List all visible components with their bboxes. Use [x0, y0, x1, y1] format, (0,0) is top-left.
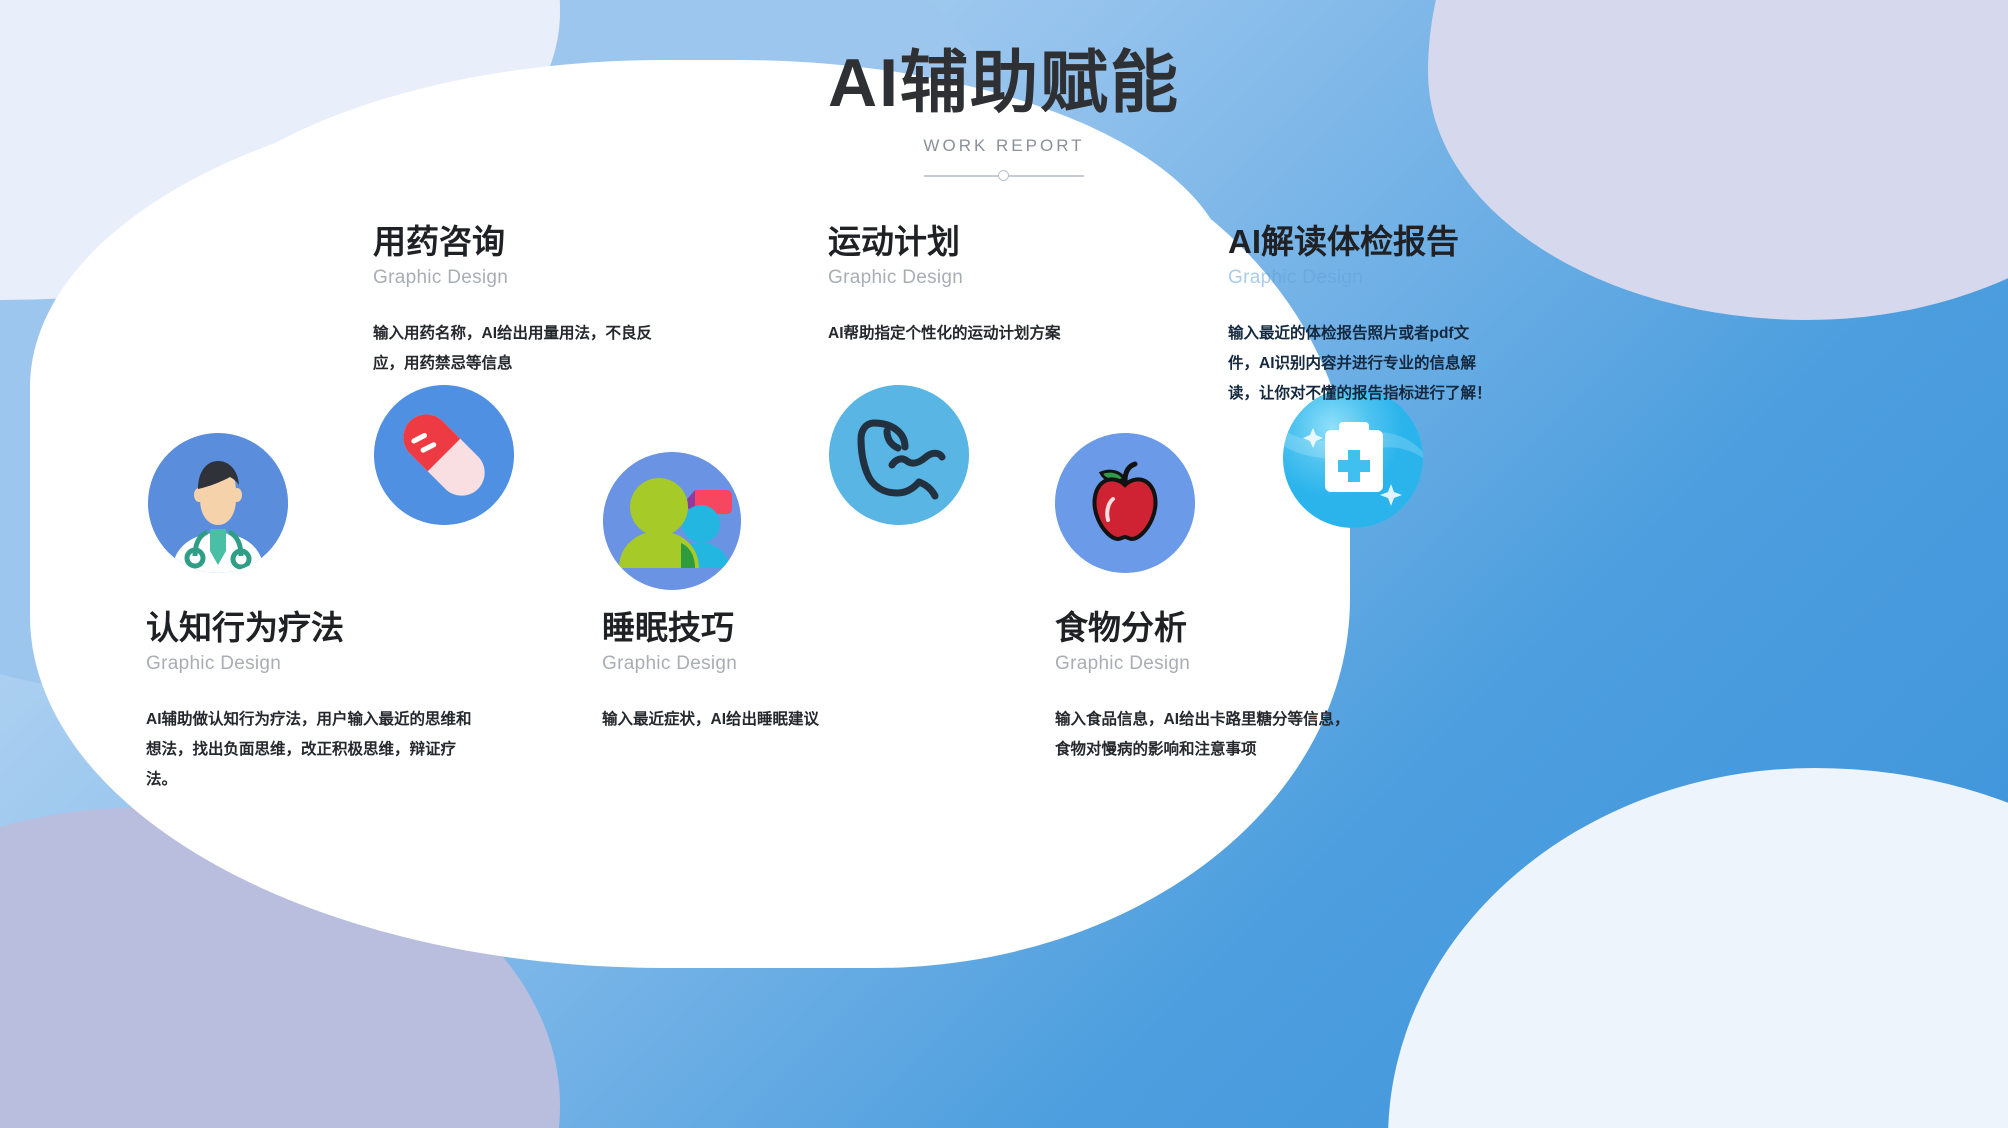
doctor-icon[interactable] — [148, 433, 288, 573]
feature-subtitle: Graphic Design — [373, 267, 673, 289]
page-header: AI辅助赋能 WORK REPORT — [0, 44, 2008, 182]
divider-dot-icon — [998, 170, 1009, 181]
feature-subtitle: Graphic Design — [1055, 653, 1355, 675]
muscle-icon[interactable] — [829, 385, 969, 525]
feature-subtitle: Graphic Design — [1228, 267, 1498, 289]
feature-description: AI帮助指定个性化的运动计划方案 — [828, 319, 1118, 349]
feature-title: 认知行为疗法 — [146, 608, 476, 648]
feature-ai-health-report: AI解读体检报告 Graphic Design 输入最近的体检报告照片或者pdf… — [1228, 222, 1498, 409]
apple-icon[interactable] — [1055, 433, 1195, 573]
feature-subtitle: Graphic Design — [146, 653, 476, 675]
feature-sleep-tips: 睡眠技巧 Graphic Design 输入最近症状，AI给出睡眠建议 — [602, 608, 902, 735]
feature-description: AI辅助做认知行为疗法，用户输入最近的思维和想法，找出负面思维，改正积极思维，辩… — [146, 705, 476, 796]
feature-food-analysis: 食物分析 Graphic Design 输入食品信息，AI给出卡路里糖分等信息，… — [1055, 608, 1355, 765]
feature-description: 输入用药名称，AI给出用量用法，不良反应，用药禁忌等信息 — [373, 319, 673, 379]
people-chat-icon-glyph — [603, 452, 741, 590]
blob-bottom-right — [1388, 768, 2008, 1128]
feature-description: 输入食品信息，AI给出卡路里糖分等信息，食物对慢病的影响和注意事项 — [1055, 705, 1355, 765]
people-chat-icon[interactable] — [603, 452, 741, 590]
feature-subtitle: Graphic Design — [828, 267, 1118, 289]
feature-subtitle: Graphic Design — [602, 653, 902, 675]
feature-medication-consultation: 用药咨询 Graphic Design 输入用药名称，AI给出用量用法，不良反应… — [373, 222, 673, 379]
feature-title: 用药咨询 — [373, 222, 673, 262]
feature-title: 运动计划 — [828, 222, 1118, 262]
feature-title: AI解读体检报告 — [1228, 222, 1498, 262]
page-subtitle: WORK REPORT — [0, 136, 2008, 156]
feature-cognitive-behavioral-therapy: 认知行为疗法 Graphic Design AI辅助做认知行为疗法，用户输入最近… — [146, 608, 476, 795]
page-title: AI辅助赋能 — [0, 44, 2008, 122]
pill-icon[interactable] — [374, 385, 514, 525]
feature-exercise-plan: 运动计划 Graphic Design AI帮助指定个性化的运动计划方案 — [828, 222, 1118, 349]
feature-description: 输入最近的体检报告照片或者pdf文件，AI识别内容并进行专业的信息解读，让你对不… — [1228, 319, 1498, 410]
doctor-icon-glyph — [148, 433, 288, 573]
feature-title: 睡眠技巧 — [602, 608, 902, 648]
apple-icon-glyph — [1055, 433, 1195, 573]
muscle-icon-glyph — [829, 385, 969, 525]
feature-title: 食物分析 — [1055, 608, 1355, 648]
pill-icon-glyph — [374, 385, 514, 525]
header-divider — [924, 170, 1084, 182]
feature-description: 输入最近症状，AI给出睡眠建议 — [602, 705, 902, 735]
